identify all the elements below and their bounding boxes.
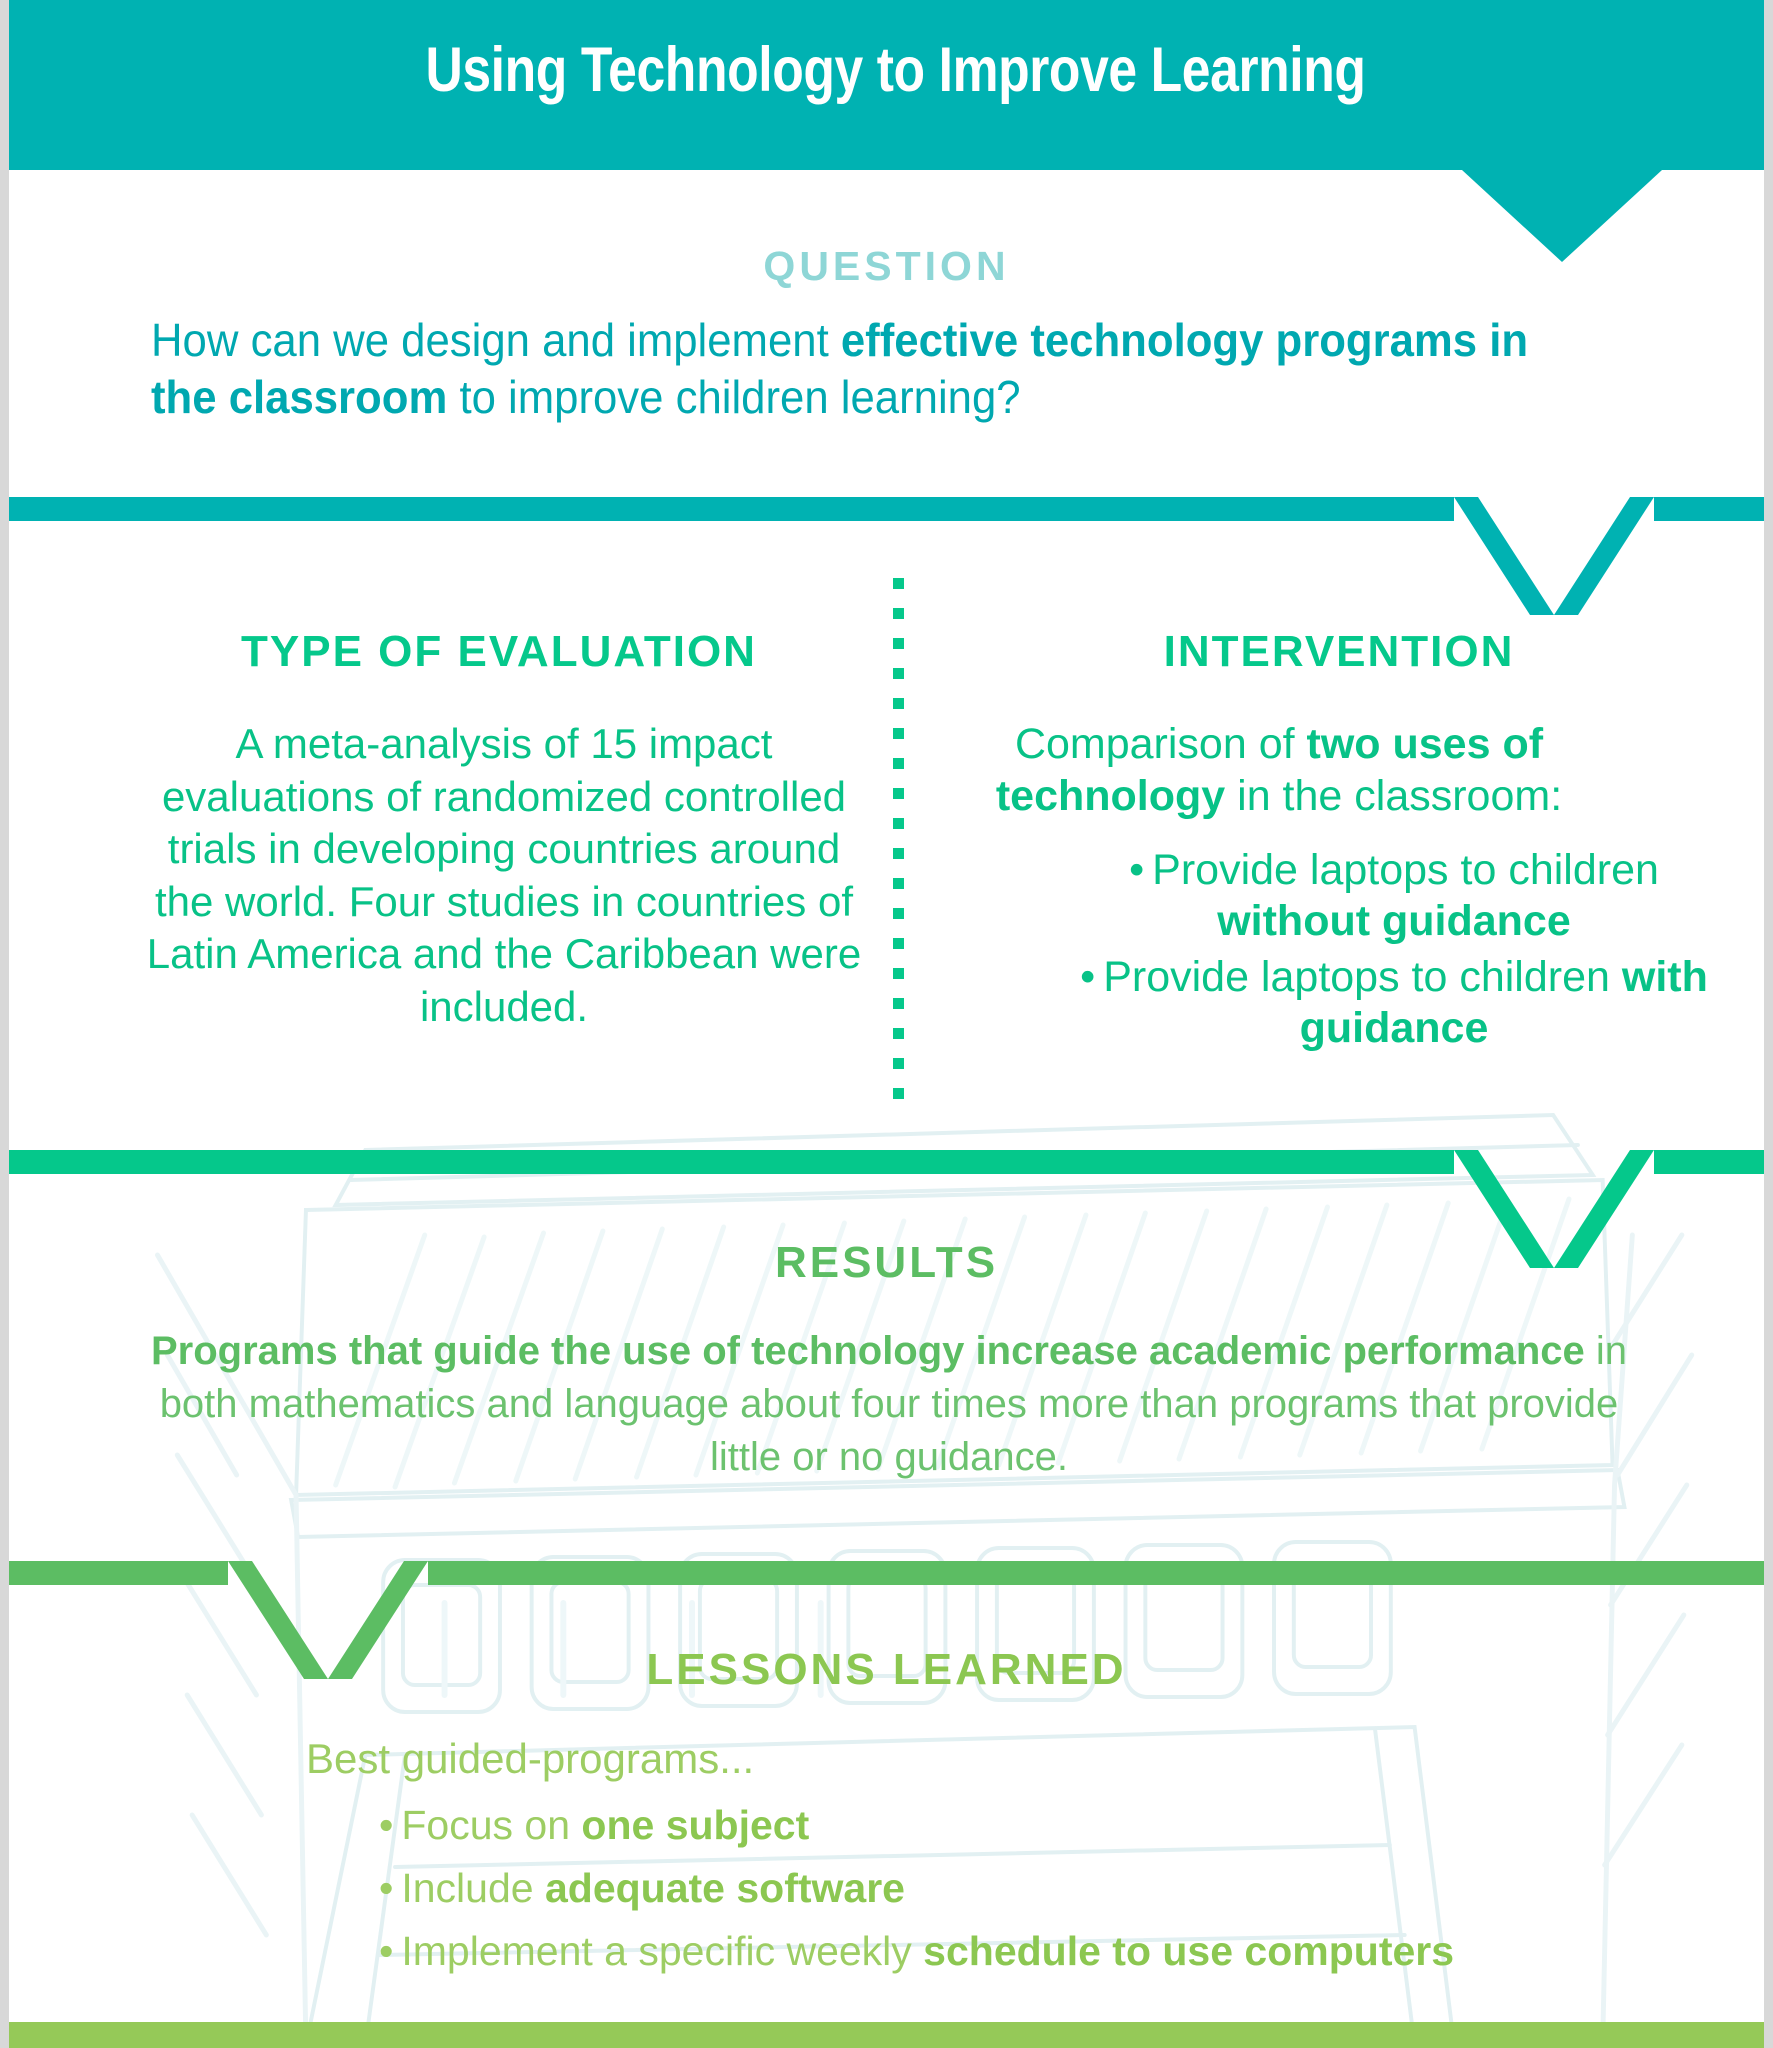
intervention-heading: INTERVENTION bbox=[909, 627, 1769, 677]
intervention-intro: Comparison of two uses of technology in … bbox=[969, 718, 1589, 823]
question-text: How can we design and implement effectiv… bbox=[151, 312, 1548, 426]
infographic-page: Using Technology to Improve Learning QUE… bbox=[0, 0, 1773, 2048]
intervention-bullet-list: •Provide laptops to children without gui… bbox=[1054, 845, 1734, 1060]
type-of-evaluation-heading: TYPE OF EVALUATION bbox=[29, 627, 969, 677]
question-divider bbox=[0, 497, 1773, 521]
list-item-lead: Provide laptops to children bbox=[1152, 846, 1659, 894]
bullet-dot-icon: • bbox=[379, 1802, 393, 1848]
lessons-learned-heading: LESSONS LEARNED bbox=[9, 1645, 1764, 1695]
list-item: •Include adequate software bbox=[379, 1868, 1579, 1909]
list-item: •Focus on one subject bbox=[379, 1805, 1579, 1846]
question-heading: QUESTION bbox=[9, 243, 1764, 290]
lessons-learned-bullet-list: •Focus on one subject •Include adequate … bbox=[379, 1805, 1579, 1994]
list-item-emphasis: adequate software bbox=[545, 1865, 905, 1911]
list-item-emphasis: one subject bbox=[581, 1802, 809, 1848]
intervention-intro-plain-1: Comparison of bbox=[1015, 720, 1307, 768]
list-item-emphasis: schedule to use computers bbox=[923, 1928, 1454, 1974]
list-item-lead: Implement a specific weekly bbox=[401, 1928, 923, 1974]
bullet-dot-icon: • bbox=[379, 1865, 393, 1911]
question-text-plain-2: to improve children learning? bbox=[447, 371, 1020, 423]
type-of-evaluation-text: A meta-analysis of 15 impact evaluations… bbox=[134, 718, 874, 1033]
bullet-dot-icon: • bbox=[379, 1928, 393, 1974]
bullet-dot-icon: • bbox=[1129, 846, 1144, 894]
list-item-emphasis: without guidance bbox=[1217, 897, 1571, 945]
lessons-divider bbox=[0, 1561, 1773, 1585]
intervention-intro-plain-2: in the classroom: bbox=[1225, 772, 1562, 820]
bullet-dot-icon: • bbox=[1080, 953, 1095, 1001]
footer-band bbox=[0, 2022, 1773, 2048]
results-divider bbox=[0, 1150, 1773, 1174]
results-text: Programs that guide the use of technolog… bbox=[139, 1325, 1639, 1483]
list-item: •Provide laptops to children with guidan… bbox=[1054, 952, 1734, 1053]
results-heading: RESULTS bbox=[9, 1238, 1764, 1288]
question-text-plain-1: How can we design and implement bbox=[151, 314, 841, 366]
page-title: Using Technology to Improve Learning bbox=[169, 34, 1623, 106]
lessons-learned-intro: Best guided-programs... bbox=[306, 1735, 754, 1783]
list-item-lead: Focus on bbox=[401, 1802, 581, 1848]
vertical-dotted-divider bbox=[893, 578, 905, 1123]
results-text-bold: Programs that guide the use of technolog… bbox=[151, 1329, 1585, 1373]
list-item-lead: Include bbox=[401, 1865, 545, 1911]
list-item: •Provide laptops to children without gui… bbox=[1054, 845, 1734, 946]
list-item: •Implement a specific weekly schedule to… bbox=[379, 1931, 1579, 1972]
list-item-lead: Provide laptops to children bbox=[1103, 953, 1622, 1001]
